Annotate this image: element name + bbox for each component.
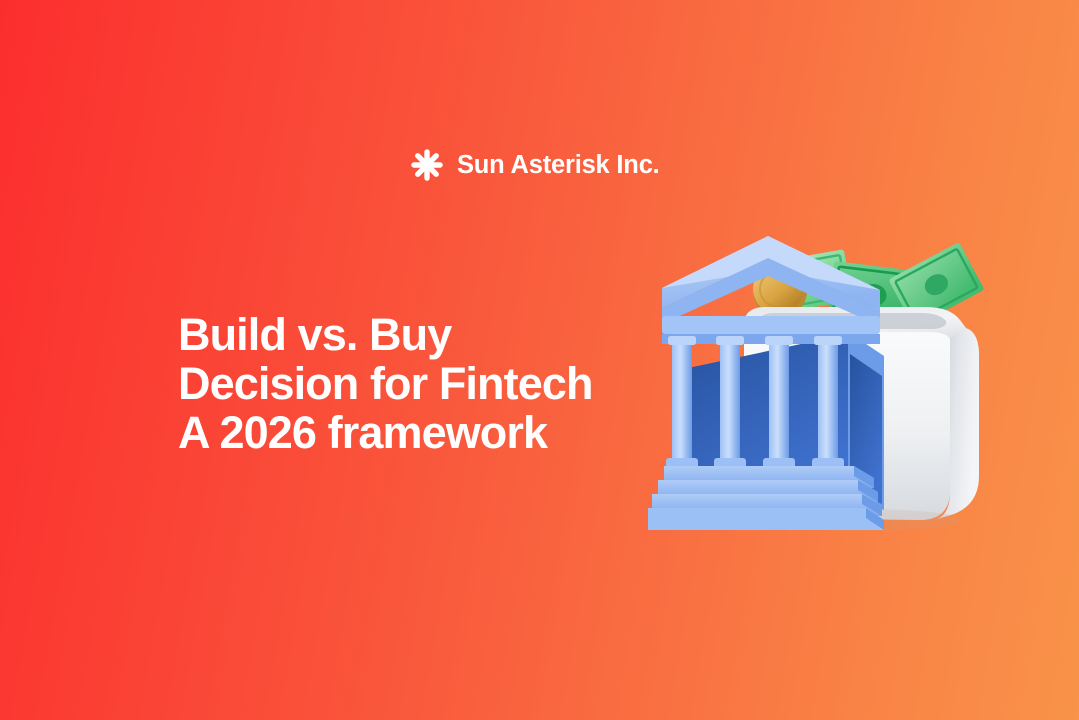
page-title: Build vs. Buy Decision for Fintech A 202… xyxy=(178,310,698,457)
headline-line-2: Decision for Fintech xyxy=(178,359,698,408)
bank-money-illustration xyxy=(648,228,1008,548)
slide-canvas: Sun Asterisk Inc. Build vs. Buy Decision… xyxy=(0,0,1079,720)
headline-line-1: Build vs. Buy xyxy=(178,310,698,359)
brand-lockup: Sun Asterisk Inc. xyxy=(411,144,660,186)
illustration-svg xyxy=(648,228,1008,548)
asterisk-icon xyxy=(411,149,443,181)
headline-line-3: A 2026 framework xyxy=(178,408,698,457)
bank-steps xyxy=(648,466,884,530)
brand-name: Sun Asterisk Inc. xyxy=(457,153,660,179)
